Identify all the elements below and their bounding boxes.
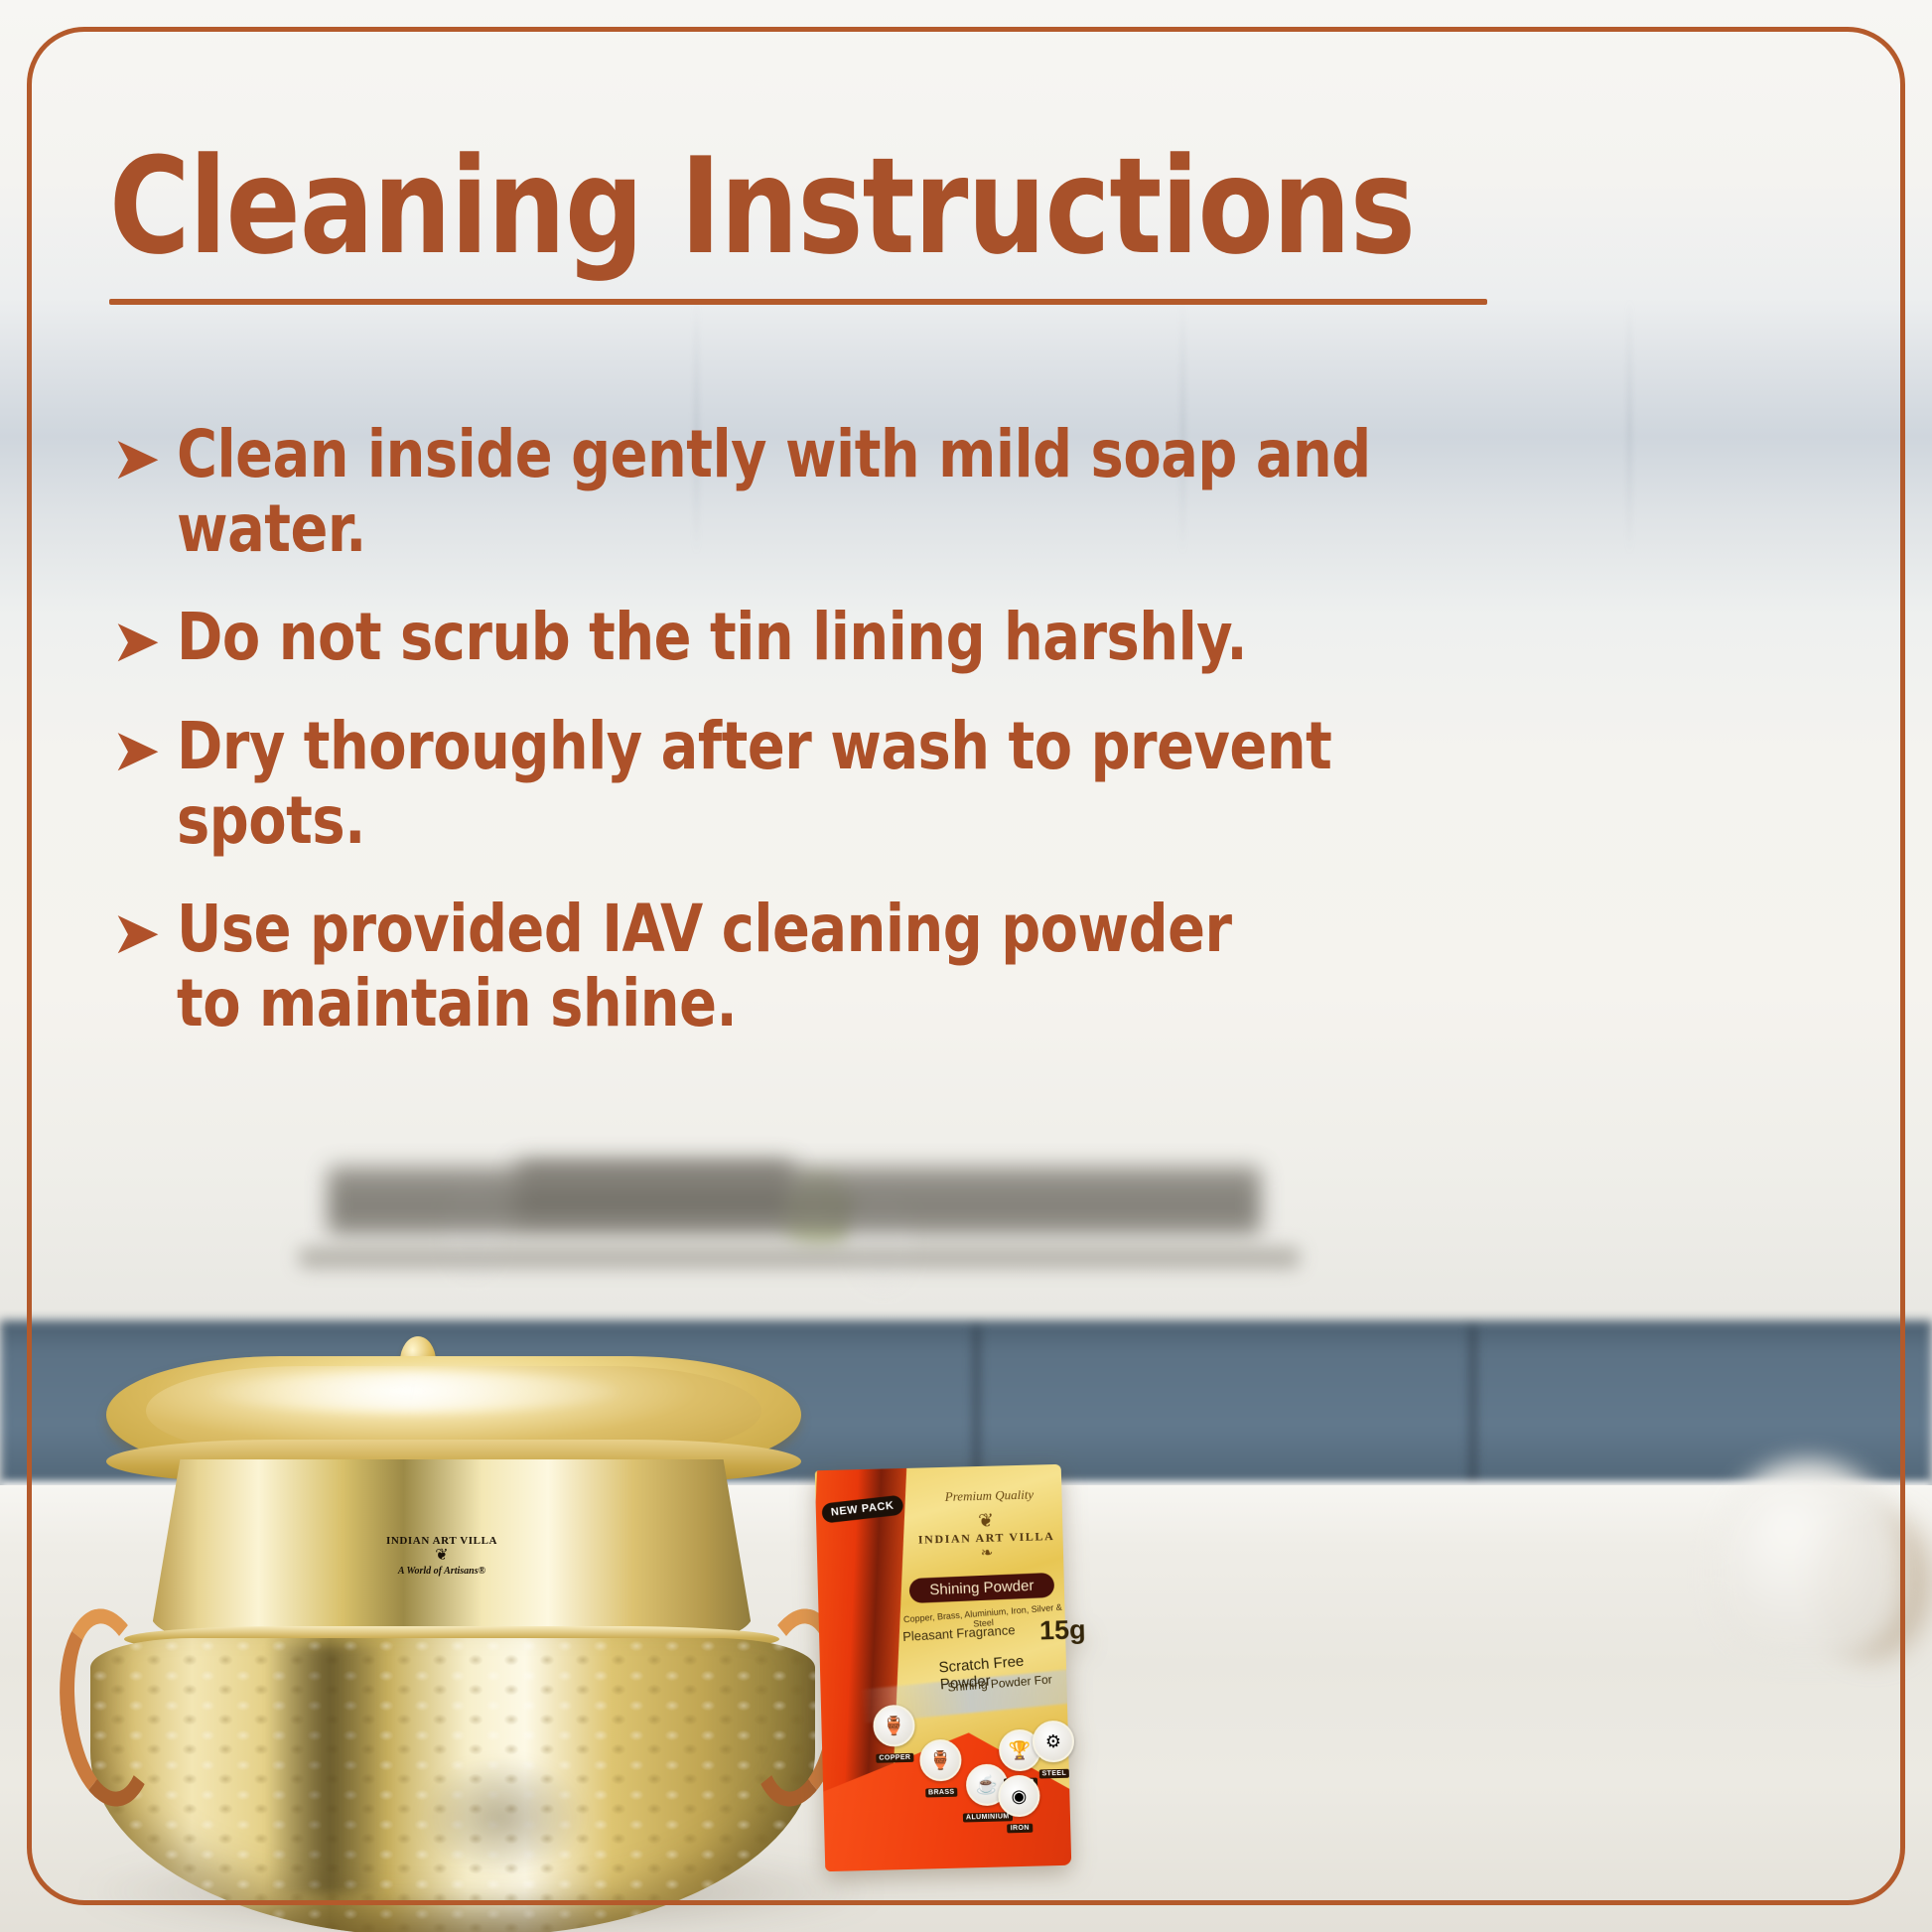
brass-vessel-icon: 🏺 [919, 1739, 962, 1782]
instruction-text: Dry thoroughly after wash to prevent spo… [177, 709, 1515, 858]
page-title: Cleaning Instructions [109, 139, 1388, 275]
ornament-icon: ❦ [382, 1548, 501, 1564]
metal-label: STEEL [1038, 1769, 1069, 1779]
metal-label: COPPER [876, 1753, 913, 1763]
metal-label: BRASS [925, 1788, 958, 1798]
metal-icon-copper: 🏺 COPPER [873, 1705, 916, 1765]
sachet-premium-quality-text: Premium Quality [924, 1486, 1053, 1505]
copper-pot-icon: 🏺 [873, 1705, 915, 1747]
brass-handi-pot-image: INDIAN ART VILLA ❦ A World of Artisans® [55, 1311, 908, 1932]
list-item: ➤ Clean inside gently with mild soap and… [111, 417, 1600, 566]
arrow-bullet-icon: ➤ [111, 600, 177, 671]
instruction-text: Use provided IAV cleaning powder to main… [177, 892, 1259, 1040]
cabinet-seam [1469, 1326, 1476, 1491]
instruction-text: Clean inside gently with mild soap and w… [177, 417, 1515, 566]
header: Cleaning Instructions [109, 139, 1499, 305]
shining-powder-sachet-image: NEW PACK Premium Quality ❦ INDIAN ART VI… [815, 1464, 1071, 1871]
background-shelf-rail [298, 1246, 1301, 1268]
instructions-list: ➤ Clean inside gently with mild soap and… [111, 417, 1600, 1075]
arrow-bullet-icon: ➤ [111, 709, 177, 780]
steel-vessel-icon: ⚙ [1032, 1721, 1074, 1763]
metal-label: IRON [1008, 1824, 1033, 1834]
arrow-bullet-icon: ➤ [111, 417, 177, 488]
pot-body-reflection [418, 1757, 587, 1876]
iron-vessel-icon: ◉ [998, 1775, 1040, 1818]
pot-body-reflection [269, 1646, 388, 1894]
pot-brand-tagline: A World of Artisans® [382, 1566, 501, 1577]
list-item: ➤ Dry thoroughly after wash to prevent s… [111, 709, 1600, 858]
metal-icon-iron: ◉ IRON [998, 1775, 1041, 1836]
metal-icon-steel: ⚙ STEEL [1032, 1721, 1075, 1781]
pot-brand-badge: INDIAN ART VILLA ❦ A World of Artisans® [382, 1535, 501, 1577]
title-underline [109, 299, 1487, 305]
pot-lid-highlight [204, 1372, 621, 1412]
instruction-text: Do not scrub the tin lining harshly. [177, 600, 1247, 674]
pot-body [90, 1638, 815, 1932]
metal-icon-brass: 🏺 BRASS [919, 1739, 963, 1800]
sachet-brand-logo: ❦ INDIAN ART VILLA ❧ [911, 1510, 1061, 1563]
list-item: ➤ Use provided IAV cleaning powder to ma… [111, 892, 1600, 1040]
sachet-weight: 15g [1039, 1614, 1086, 1646]
cleaning-instructions-poster: Cleaning Instructions ➤ Clean inside gen… [0, 0, 1932, 1932]
list-item: ➤ Do not scrub the tin lining harshly. [111, 600, 1600, 674]
background-shelf [328, 1167, 1261, 1236]
arrow-bullet-icon: ➤ [111, 892, 177, 963]
backsplash-seam [1628, 298, 1631, 556]
pot-brand-name: INDIAN ART VILLA [382, 1535, 501, 1547]
background-counter-object [1714, 1459, 1902, 1658]
